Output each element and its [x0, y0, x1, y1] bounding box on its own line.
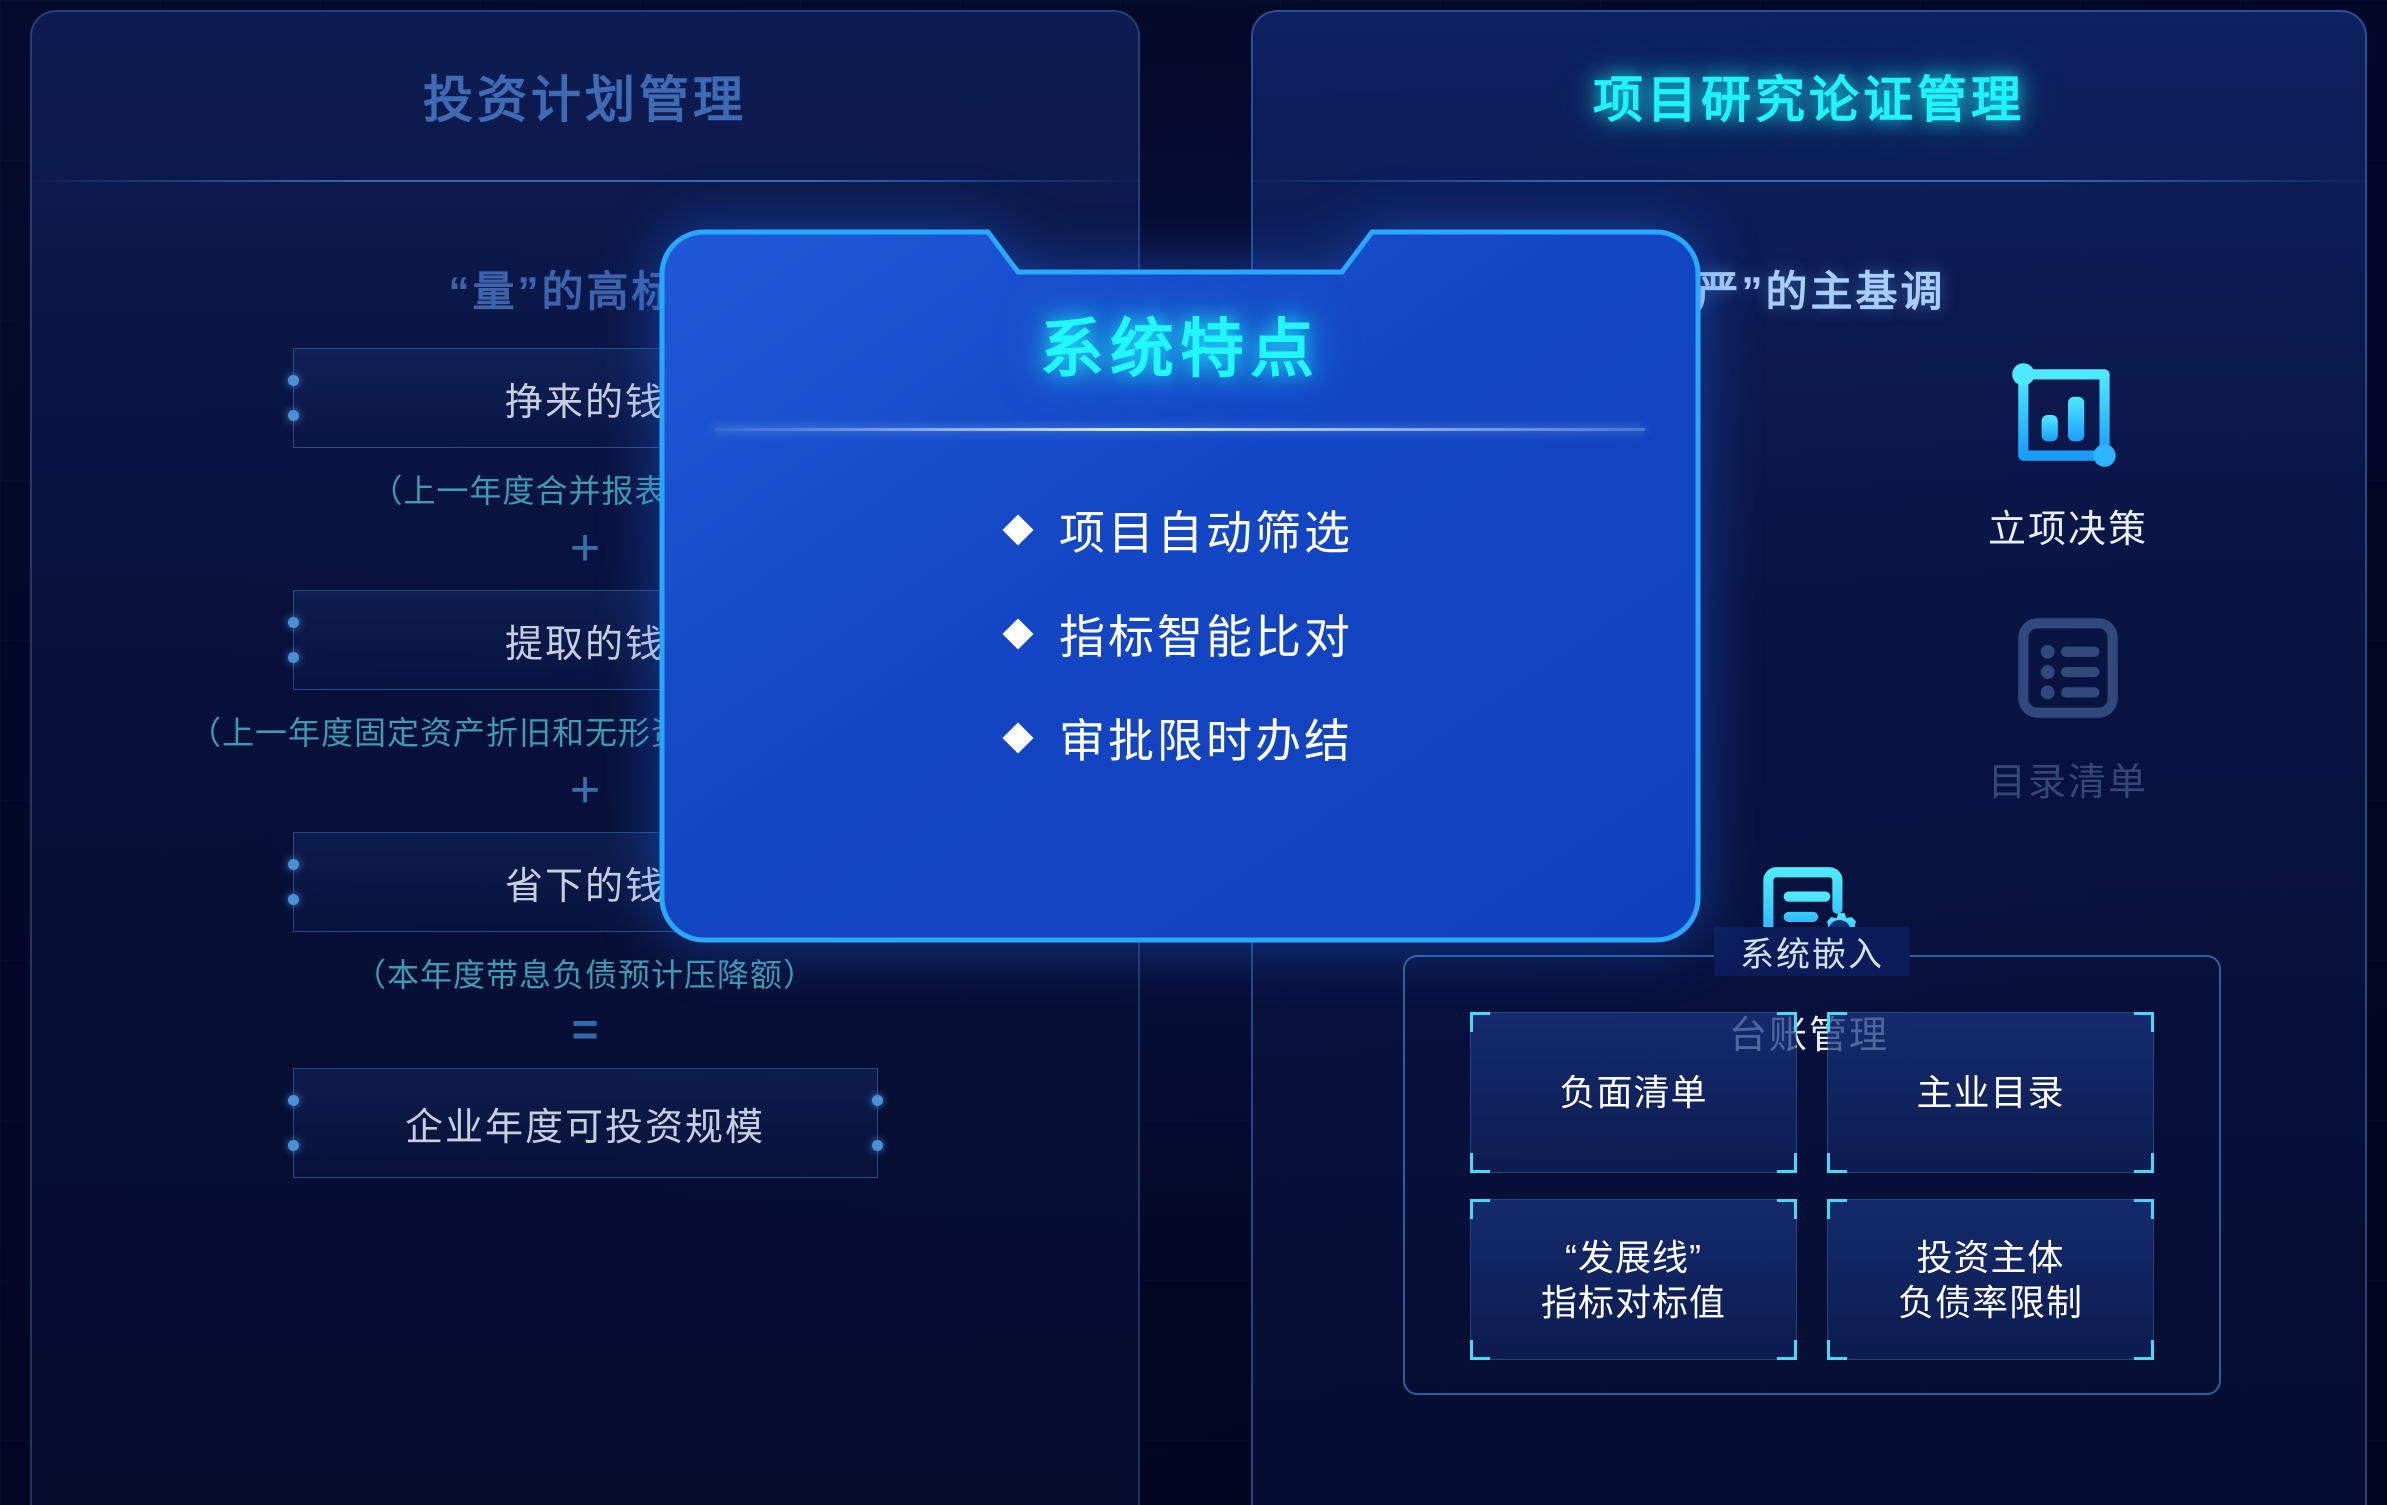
- right-panel-title: 项目研究论证管理: [1593, 60, 2025, 132]
- node-dot: [872, 1095, 883, 1106]
- left-panel-title: 投资计划管理: [423, 60, 747, 132]
- system-embed-fieldset: 系统嵌入 负面清单 主业目录: [1403, 955, 2221, 1395]
- diamond-bullet-icon: [1002, 722, 1033, 753]
- embed-card-main-business-catalog[interactable]: 主业目录: [1828, 1013, 2153, 1172]
- node-dot: [288, 1095, 299, 1106]
- card-edge: [1470, 1012, 1797, 1173]
- corner-bracket-icon: [1470, 1340, 1490, 1360]
- modal-feature-label: 审批限时办结: [1059, 705, 1353, 771]
- corner-bracket-icon: [1777, 1199, 1797, 1219]
- corner-bracket-icon: [2134, 1340, 2154, 1360]
- corner-bracket-icon: [1827, 1153, 1847, 1173]
- right-header-divider: [1251, 180, 2367, 182]
- node-dot: [288, 617, 299, 628]
- corner-bracket-icon: [1827, 1340, 1847, 1360]
- capability-item-catalog-list[interactable]: 目录清单: [1918, 603, 2218, 806]
- left-header-divider: [30, 180, 1140, 182]
- node-dot: [288, 375, 299, 386]
- modal-feature-item[interactable]: 指标智能比对: [1007, 601, 1353, 667]
- modal-feature-label: 指标智能比对: [1059, 601, 1353, 667]
- right-panel-header: 项目研究论证管理: [1251, 10, 2367, 182]
- corner-bracket-icon: [1827, 1012, 1847, 1032]
- corner-bracket-icon: [1470, 1153, 1490, 1173]
- node-dot: [288, 652, 299, 663]
- modal-feature-label: 项目自动筛选: [1059, 497, 1353, 563]
- card-edge: [1827, 1012, 2154, 1173]
- card-edge: [1827, 1199, 2154, 1360]
- capability-label: 立项决策: [1918, 498, 2218, 553]
- corner-bracket-icon: [1777, 1153, 1797, 1173]
- flow-operator-equals: =: [30, 1006, 1140, 1052]
- flow-caption-saved: （本年度带息负债预计压降额）: [30, 950, 1140, 996]
- capability-label: 目录清单: [1918, 751, 2218, 806]
- corner-bracket-icon: [1470, 1199, 1490, 1219]
- flow-box-label: 省下的钱: [505, 855, 665, 910]
- slide-canvas: 投资计划管理 “量”的高标准 挣来的钱 （上一年度合并报表净利润） + 提取的钱…: [0, 0, 2387, 1505]
- diamond-bullet-icon: [1002, 514, 1033, 545]
- corner-bracket-icon: [2134, 1012, 2154, 1032]
- flow-box-total-capacity: 企业年度可投资规模: [293, 1068, 878, 1178]
- system-features-modal[interactable]: 系统特点 项目自动筛选 指标智能比对 审批限时办结: [658, 228, 1702, 944]
- modal-feature-item[interactable]: 项目自动筛选: [1007, 497, 1353, 563]
- node-dot: [872, 1140, 883, 1151]
- modal-feature-list: 项目自动筛选 指标智能比对 审批限时办结: [1007, 497, 1353, 771]
- left-panel-header: 投资计划管理: [30, 10, 1140, 182]
- modal-title-divider: [715, 428, 1645, 431]
- corner-bracket-icon: [2134, 1199, 2154, 1219]
- node-dot: [288, 859, 299, 870]
- corner-bracket-icon: [2134, 1153, 2154, 1173]
- corner-bracket-icon: [1777, 1340, 1797, 1360]
- embed-card-investor-debt-ratio-limit[interactable]: 投资主体 负债率限制: [1828, 1200, 2153, 1359]
- capability-item-project-approval[interactable]: 立项决策: [1918, 350, 2218, 553]
- node-dot: [288, 410, 299, 421]
- flow-box-label: 企业年度可投资规模: [405, 1096, 765, 1151]
- system-embed-legend: 系统嵌入: [1714, 927, 1910, 976]
- system-embed-card-grid: 负面清单 主业目录 “发展线”: [1471, 1013, 2153, 1359]
- card-edge: [1470, 1199, 1797, 1360]
- diamond-bullet-icon: [1002, 618, 1033, 649]
- corner-bracket-icon: [1777, 1012, 1797, 1032]
- corner-bracket-icon: [1827, 1199, 1847, 1219]
- corner-bracket-icon: [1470, 1012, 1490, 1032]
- bar-chart-icon: [2003, 350, 2133, 480]
- flow-box-label: 提取的钱: [505, 613, 665, 668]
- embed-card-negative-list[interactable]: 负面清单: [1471, 1013, 1796, 1172]
- flow-box-label: 挣来的钱: [505, 371, 665, 426]
- modal-feature-item[interactable]: 审批限时办结: [1007, 705, 1353, 771]
- embed-card-development-line-benchmark[interactable]: “发展线” 指标对标值: [1471, 1200, 1796, 1359]
- node-dot: [288, 1140, 299, 1151]
- modal-title: 系统特点: [1040, 298, 1320, 390]
- list-icon: [2003, 603, 2133, 733]
- node-dot: [288, 894, 299, 905]
